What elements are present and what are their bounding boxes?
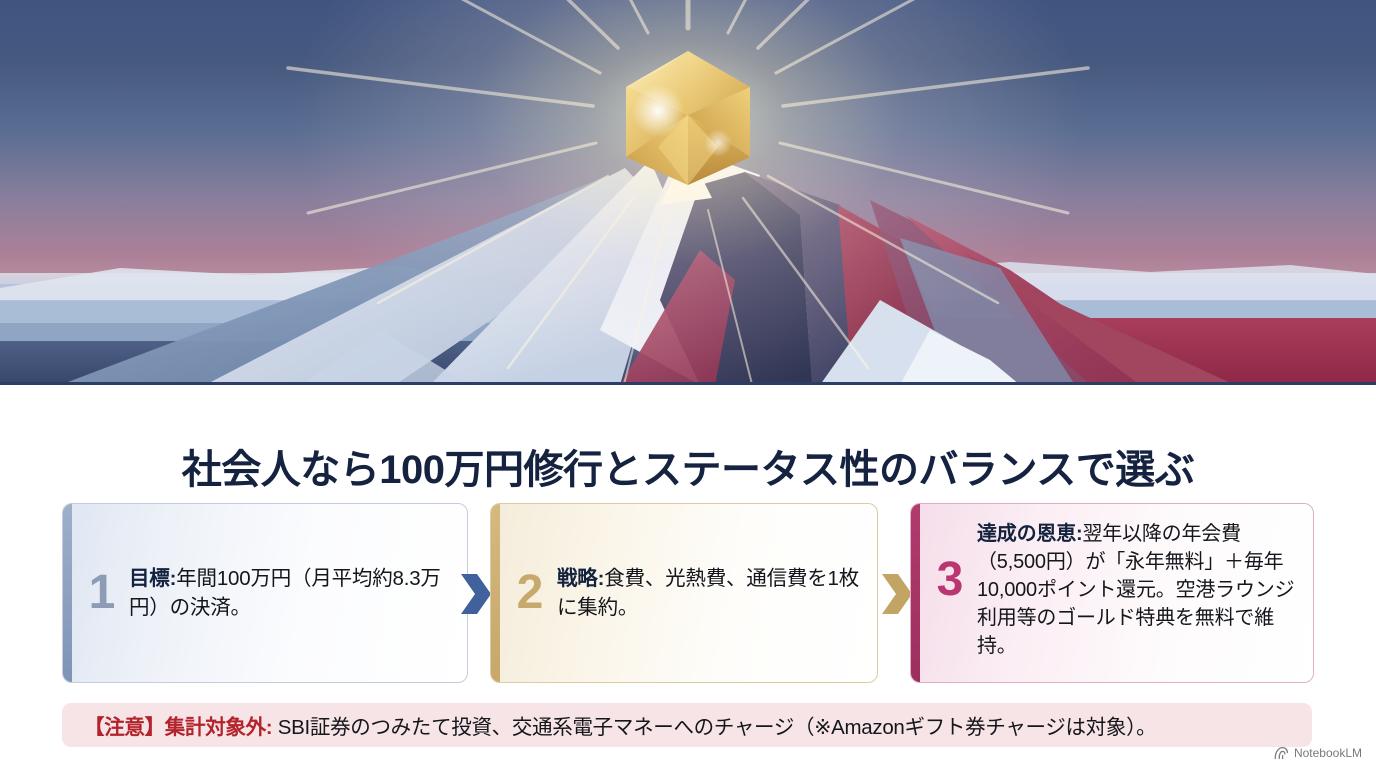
gold-icosahedron-gem-icon [593, 28, 783, 218]
step-text: 達成の恩恵:翌年以降の年会費（5,500円）が「永年無料」＋毎年10,000ポイ… [977, 504, 1313, 660]
notebooklm-watermark: NotebookLM [1274, 746, 1362, 760]
step-card-benefit[interactable]: 3 達成の恩恵:翌年以降の年会費（5,500円）が「永年無料」＋毎年10,000… [910, 503, 1314, 683]
step-flow: 1 目標:年間100万円（月平均約8.3万円）の決済。 2 戦略:食費、光熱費、… [62, 503, 1314, 691]
step-text: 戦略:食費、光熱費、通信費を1枚に集約。 [557, 564, 877, 622]
page-title: 社会人なら100万円修行とステータス性のバランスで選ぶ [0, 437, 1376, 495]
chevron-right-icon-2 [874, 571, 914, 617]
step-card-goal[interactable]: 1 目標:年間100万円（月平均約8.3万円）の決済。 [62, 503, 468, 683]
step-description: 年間100万円（月平均約8.3万円）の決済。 [129, 567, 441, 619]
step-label: 目標: [129, 567, 176, 590]
chevron-right-icon-1 [453, 571, 493, 617]
step-number: 3 [923, 556, 977, 604]
caution-note-text: 【注意】集計対象外: SBI証券のつみたて投資、交通系電子マネーへのチャージ（※… [84, 710, 1156, 740]
watermark-label: NotebookLM [1294, 746, 1362, 760]
step-number: 2 [503, 569, 557, 617]
hero-illustration [0, 0, 1376, 385]
card-accent-bar [491, 504, 500, 682]
caution-label: 【注意】集計対象外: [84, 716, 272, 739]
step-text: 目標:年間100万円（月平均約8.3万円）の決済。 [129, 564, 467, 622]
card-accent-bar [63, 504, 72, 682]
notebooklm-icon [1274, 746, 1289, 760]
caution-description: SBI証券のつみたて投資、交通系電子マネーへのチャージ（※Amazonギフト券チ… [272, 716, 1156, 739]
step-label: 達成の恩恵: [977, 523, 1082, 545]
content-area: 社会人なら100万円修行とステータス性のバランスで選ぶ 1 目標:年間100万円… [0, 385, 1376, 768]
step-label: 戦略: [557, 567, 604, 590]
card-accent-bar [911, 504, 920, 682]
step-number: 1 [75, 569, 129, 617]
step-card-strategy[interactable]: 2 戦略:食費、光熱費、通信費を1枚に集約。 [490, 503, 878, 683]
caution-note: 【注意】集計対象外: SBI証券のつみたて投資、交通系電子マネーへのチャージ（※… [62, 703, 1312, 747]
